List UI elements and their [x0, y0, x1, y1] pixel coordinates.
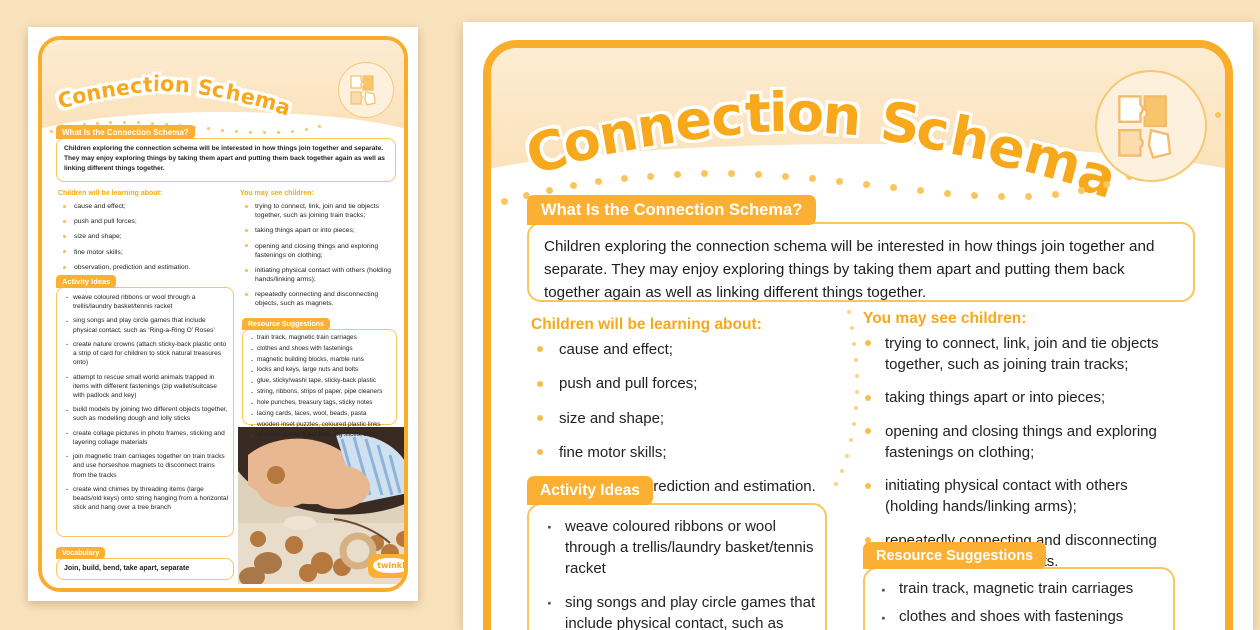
learning-heading: Children will be learning about: [531, 316, 762, 334]
thumb-learning-heading: Children will be learning about: [58, 190, 162, 197]
thumb-seeing-heading: You may see children: [240, 190, 314, 197]
document-thumbnail-preview[interactable]: C o n n e c t i o n S c h e m a [28, 27, 418, 601]
thumb-activity-badge: Activity Ideas [56, 275, 116, 288]
thumbnail-page-frame: C o n n e c t i o n S c h e m a [38, 36, 408, 592]
main-page-frame: C o n n e c t i o n S c h e m a [483, 40, 1233, 630]
thumb-resources-badge: Resource Suggestions [242, 318, 330, 330]
list-item: create wind chimes by threading items (l… [64, 485, 229, 513]
list-item: observation, prediction and estimation. [62, 263, 222, 272]
thumb-vocabulary-badge: Vocabulary [56, 547, 105, 559]
resource-suggestions-list: train track, magnetic train carriages cl… [879, 579, 1171, 630]
list-item: initiating physical contact with others … [244, 266, 394, 284]
list-item: sing songs and play circle games that in… [545, 592, 817, 630]
what-is-body: Children exploring the connection schema… [529, 224, 1193, 315]
column-divider-dots [821, 310, 861, 500]
list-item: hole punches, treasury tags, sticky note… [249, 399, 397, 407]
list-item: push and pull forces; [62, 217, 222, 226]
list-item: trying to connect, link, join and tie ob… [863, 334, 1175, 375]
list-item: magnetic building blocks, marble runs [249, 356, 397, 364]
list-item: train track, magnetic train carriages [879, 579, 1171, 599]
thumb-what-is-body: Children exploring the connection schema… [57, 139, 395, 180]
list-item: repeatedly connecting and disconnecting … [244, 290, 394, 308]
thumb-vocabulary-body: Join, build, bend, take apart, separate [57, 559, 233, 578]
list-item: locks and keys, large nuts and bolts [249, 366, 397, 374]
list-item: opening and closing things and exploring… [863, 422, 1175, 463]
list-item: attempt to rescue small world animals tr… [64, 373, 229, 401]
page-canvas: C o n n e c t i o n S c h e m a [0, 0, 1260, 630]
puzzle-pieces-icon [1095, 70, 1207, 182]
thumb-learning-list: cause and effect; push and pull forces; … [62, 202, 222, 278]
list-item: create collage pictures in photo frames,… [64, 429, 229, 447]
twinkl-logo: twinkl [373, 558, 408, 573]
list-item: fine motor skills; [535, 443, 835, 463]
list-item: size and shape; [535, 409, 835, 429]
list-item: lacing cards, laces, wool, beads, pasta [249, 410, 397, 418]
list-item: cause and effect; [62, 202, 222, 211]
list-item: wooden inset puzzles, coloured plastic l… [249, 421, 397, 429]
resource-suggestions-badge: Resource Suggestions [863, 542, 1046, 569]
list-item: trying to connect, link, join and tie ob… [244, 202, 394, 220]
activity-ideas-list: weave coloured ribbons or wool through a… [545, 516, 817, 630]
puzzle-pieces-icon [338, 62, 394, 118]
thumb-what-is-panel: Children exploring the connection schema… [56, 138, 396, 182]
thumb-activity-list: weave coloured ribbons or wool through a… [64, 293, 229, 517]
list-item: cause and effect; [535, 340, 835, 360]
list-item: build models by joining two different ob… [64, 405, 229, 423]
thumb-what-is-badge: What Is the Connection Schema? [56, 125, 195, 139]
thumb-resources-list: train track, magnetic train carriages cl… [249, 334, 397, 442]
activity-ideas-badge: Activity Ideas [527, 476, 653, 505]
list-item: mirrored stacking pebbles, log slices, c… [249, 431, 397, 439]
list-item: size and shape; [62, 232, 222, 241]
list-item: initiating physical contact with others … [863, 476, 1175, 517]
what-is-badge: What Is the Connection Schema? [527, 195, 816, 225]
list-item: opening and closing things and exploring… [244, 242, 394, 260]
list-item: clothes and shoes with fastenings [879, 607, 1171, 627]
list-item: fine motor skills; [62, 248, 222, 257]
what-is-panel: Children exploring the connection schema… [527, 222, 1195, 302]
document-main-view[interactable]: C o n n e c t i o n S c h e m a [463, 22, 1253, 630]
list-item: string, ribbons, strips of paper, pipe c… [249, 388, 397, 396]
list-item: glue, sticky/washi tape, sticky-back pla… [249, 377, 397, 385]
thumb-seeing-list: trying to connect, link, join and tie ob… [244, 202, 394, 315]
list-item: train track, magnetic train carriages [249, 334, 397, 342]
thumb-vocabulary-panel: Join, build, bend, take apart, separate [56, 558, 234, 580]
list-item: join magnetic train carriages together o… [64, 452, 229, 480]
list-item: clothes and shoes with fastenings [249, 345, 397, 353]
list-item: sing songs and play circle games that in… [64, 316, 229, 334]
list-item: weave coloured ribbons or wool through a… [64, 293, 229, 311]
list-item: taking things apart or into pieces; [863, 388, 1175, 409]
list-item: taking things apart or into pieces; [244, 226, 394, 235]
thumb-disclaimer: Disclaimer: To ensure the safety of lear… [56, 591, 404, 592]
list-item: weave coloured ribbons or wool through a… [545, 516, 817, 579]
list-item: push and pull forces; [535, 374, 835, 394]
list-item: create nature crowns (attach sticky-back… [64, 340, 229, 368]
